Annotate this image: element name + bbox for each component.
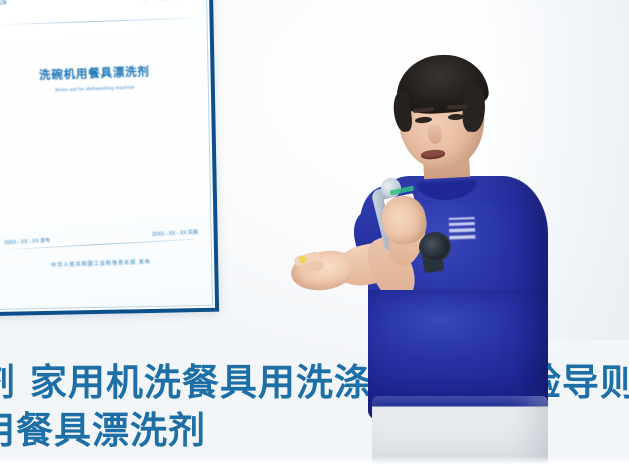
standard-document-page: ICS QB/T ____-____ 洗碗机用餐具漂洗剂 Rinse aid f… <box>0 0 213 310</box>
document-header-rule <box>0 18 191 26</box>
framed-standard-document: ICS QB/T ____-____ 洗碗机用餐具漂洗剂 Rinse aid f… <box>0 0 219 316</box>
presentation-photo-scene: ICS QB/T ____-____ 洗碗机用餐具漂洗剂 Rinse aid f… <box>0 0 629 470</box>
document-subtitle: Rinse aid for dishwashing machine <box>0 82 207 95</box>
pants-pocket-left <box>386 416 417 449</box>
document-ics-code: ICS <box>0 0 7 6</box>
document-issue-date: 20XX - XX - XX 发布 <box>4 237 50 247</box>
document-effective-date: 20XX - XX - XX 实施 <box>152 229 198 239</box>
document-header: ICS QB/T ____-____ <box>0 0 188 6</box>
document-title: 洗碗机用餐具漂洗剂 <box>0 61 207 85</box>
bottom-fade-strip <box>0 456 629 470</box>
shirt-crest-logo <box>449 213 476 242</box>
document-publisher: 中华人民共和国工业和信息化部 发布 <box>0 256 213 271</box>
picture-frame-matting: ICS QB/T ____-____ 洗碗机用餐具漂洗剂 Rinse aid f… <box>0 0 213 310</box>
document-standard-number: QB/T ____-____ <box>141 0 187 1</box>
speaker-ring <box>299 256 306 263</box>
